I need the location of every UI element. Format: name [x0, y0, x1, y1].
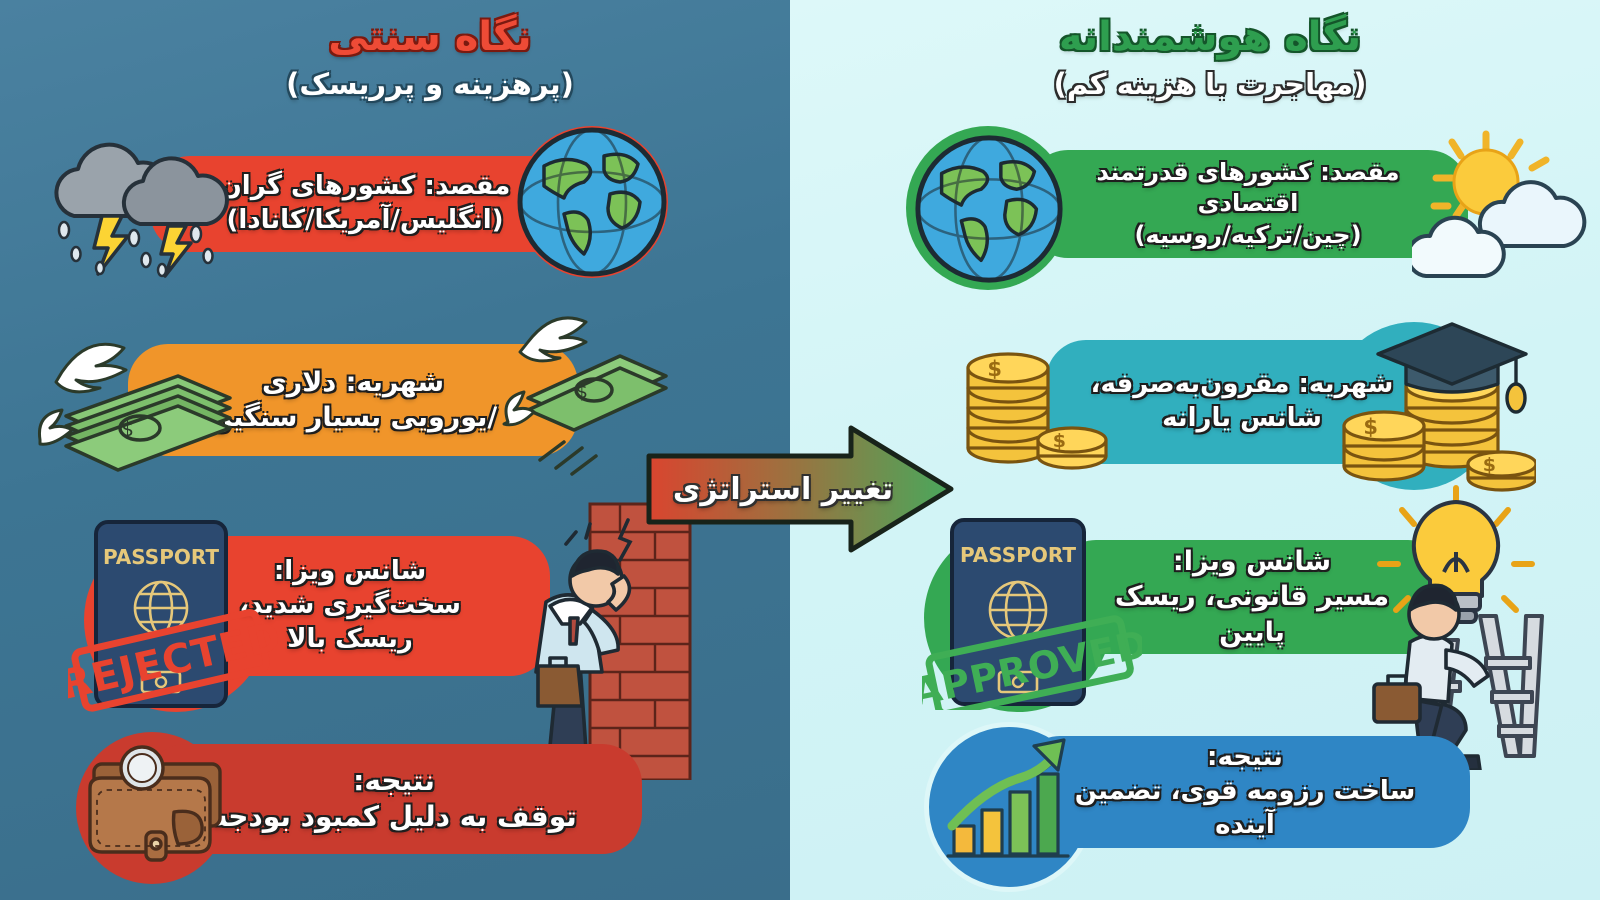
passport-rejected-icon: PASSPORT REJECTED	[68, 512, 288, 712]
svg-text:$: $	[1363, 415, 1378, 439]
smart-title-block: نگاه هوشمندانه (مهاجرت با هزینه کم)	[930, 14, 1490, 102]
passport-label: PASSPORT	[960, 543, 1076, 567]
passport-label: PASSPORT	[103, 545, 219, 569]
infographic-canvas: نگاه سنتی (پرهزینه و پرریسک) نگاه هوشمند…	[0, 0, 1600, 900]
empty-wallet-icon	[70, 740, 250, 870]
graduation-cap-coins-icon: $ $	[1336, 316, 1536, 496]
right-row4-line1: نتیجه:	[1050, 741, 1440, 775]
svg-text:$: $	[1483, 454, 1496, 476]
left-row4-line2: توقف به دلیل کمبود بودجه	[211, 799, 577, 835]
man-climbing-ladder-lightbulb-icon	[1336, 480, 1586, 770]
right-row1-line1: مقصد: کشورهای قدرتمند اقتصادی	[1058, 157, 1438, 219]
traditional-subtitle: (پرهزینه و پرریسک)	[150, 66, 710, 102]
flying-money-stack-icon: $	[36, 320, 266, 480]
storm-cloud-lightning-icon	[36, 128, 236, 278]
svg-text:$: $	[1053, 430, 1066, 452]
left-row1-line1: مقصد: کشورهای گران	[220, 170, 511, 204]
right-row1-bar: مقصد: کشورهای قدرتمند اقتصادی (چین/ترکیه…	[1028, 150, 1468, 258]
right-row4-line2: ساخت رزومه قوی، تضمین آینده	[1050, 775, 1440, 843]
svg-text:$: $	[576, 381, 588, 403]
globe-icon	[512, 122, 672, 282]
left-row1-line2: (انگلیس/آمریکا/کانادا)	[220, 204, 511, 238]
svg-text:$: $	[987, 357, 1002, 381]
right-row1-text: مقصد: کشورهای قدرتمند اقتصادی (چین/ترکیه…	[1058, 157, 1438, 251]
right-row4-text: نتیجه: ساخت رزومه قوی، تضمین آینده	[1050, 741, 1440, 842]
right-row1-line2: (چین/ترکیه/روسیه)	[1058, 220, 1438, 251]
right-row4-bar: نتیجه: ساخت رزومه قوی، تضمین آینده	[1020, 736, 1470, 848]
globe-icon	[910, 130, 1068, 288]
svg-text:$: $	[121, 417, 134, 441]
gold-coin-stack-icon: $ $	[962, 336, 1112, 476]
left-row1-text: مقصد: کشورهای گران (انگلیس/آمریکا/کانادا…	[220, 170, 511, 238]
growth-chart-arrow-icon	[938, 732, 1078, 872]
traditional-title-block: نگاه سنتی (پرهزینه و پرریسک)	[150, 14, 710, 102]
smart-title: نگاه هوشمندانه	[930, 14, 1490, 60]
smart-subtitle: (مهاجرت با هزینه کم)	[930, 66, 1490, 102]
sun-cloud-icon	[1412, 124, 1592, 284]
strategy-change-arrow[interactable]: تغییر استراتژی	[645, 424, 955, 554]
traditional-title: نگاه سنتی	[150, 14, 710, 60]
left-row4-line1: نتیجه:	[211, 763, 577, 799]
left-row4-text: نتیجه: توقف به دلیل کمبود بودجه	[211, 763, 577, 836]
right-arrow-icon	[645, 424, 955, 554]
passport-approved-icon: PASSPORT APPROVED	[922, 510, 1142, 710]
